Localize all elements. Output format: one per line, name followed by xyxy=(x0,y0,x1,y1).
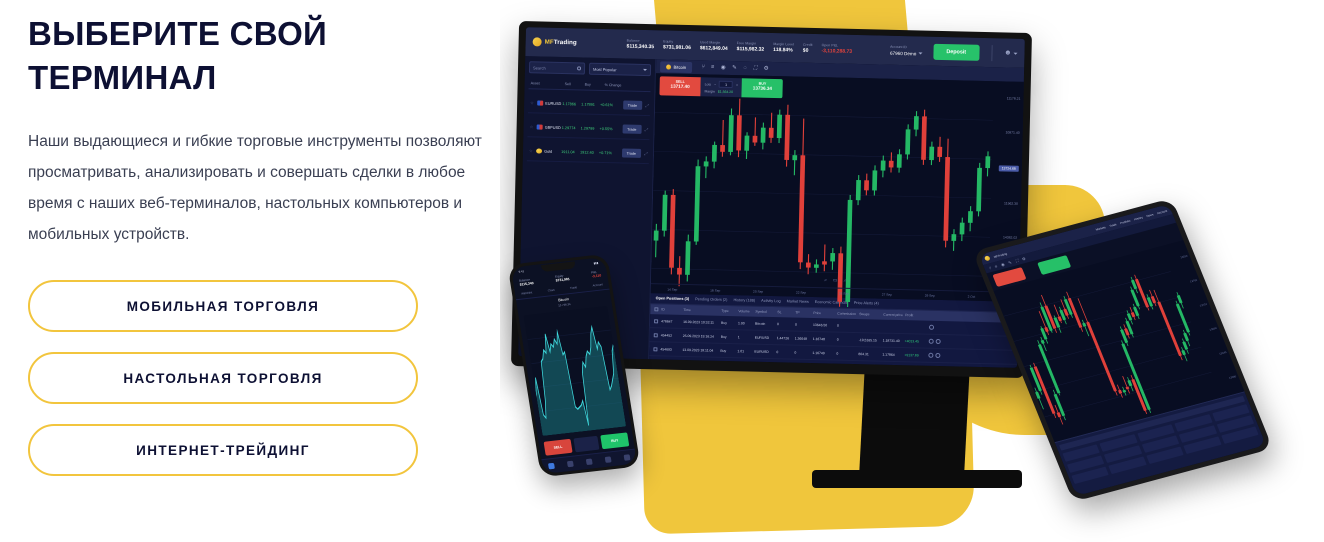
logo-prefix: MF xyxy=(545,39,554,46)
reset-zoom-icon[interactable]: ▭ xyxy=(833,277,838,283)
cell-time: 13.09.2023 18:11:04 xyxy=(682,347,720,352)
timeframe-icon[interactable]: ≡ xyxy=(711,65,714,71)
stat-equity: Equity $731,981.06 xyxy=(663,39,691,51)
stat-label: Credit xyxy=(803,42,813,46)
buy-price: 13736.34 xyxy=(742,85,783,91)
search-icon xyxy=(577,66,581,70)
cell-id: 454452 xyxy=(661,333,683,338)
cell-id: 478847 xyxy=(661,319,683,324)
bitcoin-icon xyxy=(666,64,671,69)
chart-icon[interactable] xyxy=(567,461,574,468)
watchlist-header: Asset Sell Buy % Change xyxy=(529,77,651,92)
time-tick: 27 Sep xyxy=(882,292,892,296)
chart-tab-bitcoin[interactable]: Bitcoin xyxy=(660,61,692,73)
cell-profit xyxy=(905,327,927,328)
tablet-menu-history[interactable]: History xyxy=(1133,215,1143,221)
trade-button[interactable]: Trade xyxy=(622,124,641,133)
time-tick: 14 Sep xyxy=(667,287,677,291)
buy-button[interactable]: BUY 13736.34 xyxy=(742,78,783,98)
cell-swaps: -19,5165.15 xyxy=(859,338,883,343)
timeframe-icon[interactable]: ≡ xyxy=(994,264,998,269)
edit-position-icon[interactable] xyxy=(929,339,934,344)
draw-icon[interactable]: ✎ xyxy=(732,65,737,71)
promo-section: ВЫБЕРИТЕ СВОЙ ТЕРМИНАЛ Наши выдающиеся и… xyxy=(0,0,1324,542)
price-tick: 13810 xyxy=(1180,255,1188,260)
margin-label: Margin xyxy=(704,89,714,93)
cell-current-price xyxy=(883,326,905,327)
summary-value: $115,340 xyxy=(519,281,534,287)
trade-icon[interactable] xyxy=(586,458,593,465)
row-checkbox[interactable] xyxy=(653,347,657,351)
time-tick: 25 Sep xyxy=(839,291,849,295)
indicators-icon[interactable]: ⑂ xyxy=(988,265,992,270)
sell-button[interactable]: SELL 13717.40 xyxy=(659,76,700,96)
asset-cell: ☆Gold xyxy=(529,148,561,154)
cell-type: Buy xyxy=(721,320,738,324)
row-checkbox[interactable] xyxy=(654,333,658,337)
tab-account[interactable]: Account xyxy=(592,282,603,287)
decrement-icon[interactable]: − xyxy=(714,82,716,86)
cell-time: 25.09.2023 19:16:24 xyxy=(683,333,721,338)
tab-watchlist[interactable]: Watchlist xyxy=(521,290,533,295)
column-change: % Change xyxy=(605,83,629,88)
logo-mark-icon xyxy=(984,255,991,261)
stat-margin-level: Margin Level 118.84% xyxy=(773,42,794,54)
star-icon[interactable]: ☆ xyxy=(529,148,533,153)
row-checkbox[interactable] xyxy=(654,319,658,323)
cell-commission: 0 xyxy=(837,323,859,328)
column-tp: TP xyxy=(795,311,813,315)
search-input[interactable]: Search xyxy=(529,61,585,74)
mobile-chart-svg xyxy=(524,306,627,436)
page-title: ВЫБЕРИТЕ СВОЙ ТЕРМИНАЛ xyxy=(28,12,458,100)
divider xyxy=(991,45,992,61)
cell-price: 13646.50 xyxy=(813,323,837,328)
cell-volume: 1 xyxy=(738,335,755,339)
chart-tab-label: Bitcoin xyxy=(674,64,687,69)
price-tick: 11962.30 xyxy=(1004,202,1018,206)
summary-value: -3,110 xyxy=(592,273,602,278)
filter-value: Most Popular xyxy=(593,66,617,72)
tablet-logo-label: MFTrading xyxy=(993,251,1008,258)
cell-id: 454693 xyxy=(660,347,682,352)
chevron-down-icon xyxy=(1013,52,1017,54)
search-placeholder: Search xyxy=(533,65,546,70)
sell-price: 1911.04 xyxy=(561,150,580,154)
margin-row: Margin $1,564.20 xyxy=(704,89,737,94)
flag-icon xyxy=(537,124,543,129)
price-tick: 13724 xyxy=(1199,303,1207,308)
cell-symbol: EURUSD xyxy=(754,349,776,354)
stat-label: Used Margin xyxy=(700,40,728,45)
column-id: ID xyxy=(661,307,683,312)
mobile-sell-button[interactable]: SELL xyxy=(544,439,573,456)
mobile-buy-button[interactable]: BUY xyxy=(600,432,629,449)
chart-tools: ⑂ ≡ ◉ ✎ ◌ ⛶ ⚙ xyxy=(701,64,769,73)
edit-position-icon[interactable] xyxy=(928,353,933,358)
settings-icon[interactable]: ⚙ xyxy=(1021,256,1026,262)
star-icon[interactable]: ☆ xyxy=(530,124,534,129)
tablet-menu-account[interactable]: Account xyxy=(1156,208,1167,214)
cell-time: 16.09.2023 10:32:11 xyxy=(683,319,721,324)
price-tick: 13640 xyxy=(1219,351,1227,356)
mobile-lots-field[interactable] xyxy=(573,436,599,453)
mobile-trading-button[interactable]: МОБИЛЬНАЯ ТОРГОВЛЯ xyxy=(28,280,418,332)
trade-button[interactable]: Trade xyxy=(621,148,640,157)
time-tick: 18 Sep xyxy=(710,288,720,292)
sell-price: 13717.40 xyxy=(660,83,701,89)
watchlist-filter-select[interactable]: Most Popular xyxy=(589,63,651,76)
column-buy: Buy xyxy=(585,83,605,87)
chart-zoom-controls: ⌕ ▭ ⌕ xyxy=(824,277,846,284)
cell-commission: 0 xyxy=(837,337,859,342)
close-position-icon[interactable] xyxy=(929,325,934,330)
stat-label: Equity xyxy=(663,39,691,44)
fullscreen-icon[interactable]: ⛶ xyxy=(753,65,757,72)
monitor-stand-base xyxy=(812,470,1022,488)
price-tick: 11178.21 xyxy=(1007,97,1021,101)
close-position-icon[interactable] xyxy=(935,353,940,358)
summary-value: $731,981 xyxy=(555,277,570,283)
select-all-checkbox[interactable] xyxy=(654,307,658,311)
tablet-menu-news[interactable]: News xyxy=(1146,212,1154,218)
lots-value[interactable]: 1 xyxy=(719,81,733,88)
mobile-area-chart[interactable] xyxy=(524,306,627,436)
cell-symbol: Bitcoin xyxy=(755,321,777,326)
stat-balance: Balance $115,340.35 xyxy=(626,38,654,50)
cell-symbol: EURUSD xyxy=(755,335,777,340)
price-tick: 13590 xyxy=(1228,375,1236,380)
cell-current-price: 1.17864 xyxy=(882,352,904,357)
column-swaps: Swaps xyxy=(859,312,883,317)
price-tick: 13690 xyxy=(1209,327,1217,332)
tablet-menu-trade[interactable]: Trade xyxy=(1108,222,1117,228)
buy-price: 1912.40 xyxy=(580,150,599,154)
cta-button-group: МОБИЛЬНАЯ ТОРГОВЛЯ НАСТОЛЬНАЯ ТОРГОВЛЯ И… xyxy=(28,280,528,476)
chevron-down-icon xyxy=(918,53,922,55)
stat-label: Balance xyxy=(627,38,655,43)
tab-trade[interactable]: Trade xyxy=(570,285,578,290)
column-volume: Volume xyxy=(738,309,755,313)
account-selector[interactable]: Account ID 67960 Demo xyxy=(890,45,923,56)
price-chart[interactable]: SELL 13717.40 Lots − 1 + xyxy=(651,73,1024,302)
cell-tp: 0 xyxy=(795,322,813,326)
watchlist-row[interactable]: ☆EURUSD 1.17866 1.17891 +0.61% Trade ⤢ xyxy=(528,93,650,116)
stat-value: 118.84% xyxy=(773,47,794,53)
flag-icon xyxy=(537,100,543,105)
cell-price: 1.16748 xyxy=(813,337,837,342)
tablet-menu-portfolio[interactable]: Portfolio xyxy=(1119,218,1130,224)
stat-value: $0 xyxy=(803,48,813,54)
account-stats: Balance $115,340.35 Equity $731,981.06 U… xyxy=(622,38,884,56)
stat-label: Open P&L xyxy=(822,43,853,48)
time-tick: 2 Oct xyxy=(968,294,976,298)
trade-button[interactable]: Trade xyxy=(623,100,642,109)
column-sl: SL xyxy=(777,310,795,314)
copy-column: ВЫБЕРИТЕ СВОЙ ТЕРМИНАЛ Наши выдающиеся и… xyxy=(28,0,528,542)
margin-value: $1,564.20 xyxy=(718,90,733,94)
cell-sl: 1.44726 xyxy=(777,336,795,340)
account-value: 67960 Demo xyxy=(890,51,916,57)
brand-logo[interactable]: MFTrading xyxy=(533,37,617,48)
desktop-trading-button[interactable]: НАСТОЛЬНАЯ ТОРГОВЛЯ xyxy=(28,352,418,404)
buy-price: 1.29799 xyxy=(581,126,600,130)
stat-label: Free Margin xyxy=(737,41,765,46)
cell-tp: 1.36648 xyxy=(795,336,813,340)
tablet-menu-markets[interactable]: Markets xyxy=(1095,225,1106,231)
stat-value: $612,849.04 xyxy=(700,46,728,53)
column-profit: Profit xyxy=(905,313,927,318)
cell-commission: 0 xyxy=(836,351,858,356)
settings-icon[interactable]: ⚙ xyxy=(764,66,769,72)
deposit-button[interactable]: Deposit xyxy=(933,43,979,60)
column-symbol: Symbol xyxy=(755,310,777,315)
stat-open-pl: Open P&L -3,110,288.73 xyxy=(821,43,852,55)
tablet-device: MFTrading Markets Trade Portfolio Histor… xyxy=(972,198,1273,502)
cell-tp: 0 xyxy=(794,350,812,354)
asset-cell: ☆GBPUSD xyxy=(530,124,562,130)
column-type: Type xyxy=(721,309,738,313)
change-percent: +0.61% xyxy=(600,102,623,107)
logo-suffix: Trading xyxy=(554,39,577,47)
cell-swaps xyxy=(859,326,883,327)
fullscreen-icon[interactable]: ⛶ xyxy=(1015,258,1020,263)
order-ticket: SELL 13717.40 Lots − 1 + xyxy=(659,76,783,98)
stat-used-margin: Used Margin $612,849.04 xyxy=(700,40,728,52)
asset-label: GBPUSD xyxy=(545,125,561,129)
logo-mark-icon xyxy=(533,37,542,46)
lots-label: Lots xyxy=(705,82,712,86)
increment-icon[interactable]: + xyxy=(736,83,738,87)
stat-label: Margin Level xyxy=(773,42,794,46)
expand-icon[interactable]: ⤢ xyxy=(644,127,647,132)
cell-sl: 0 xyxy=(776,350,794,354)
account-label: Account ID xyxy=(890,45,922,50)
cell-volume: 1.01 xyxy=(737,349,754,353)
cell-swaps: 804.31 xyxy=(858,352,882,357)
buy-price: 1.17891 xyxy=(581,102,600,106)
user-avatar-icon[interactable]: ☻ xyxy=(1004,49,1018,56)
asset-label: EURUSD xyxy=(545,101,561,105)
chart-column: Bitcoin ⑂ ≡ ◉ ✎ ◌ ⛶ ⚙ xyxy=(649,59,1024,368)
draw-icon[interactable]: ✎ xyxy=(1007,260,1012,266)
cell-profit: +4013.45 xyxy=(905,339,927,344)
compare-icon[interactable]: ◉ xyxy=(721,65,726,71)
home-icon[interactable] xyxy=(548,463,555,470)
close-position-icon[interactable] xyxy=(936,339,941,344)
stat-value: $731,981.06 xyxy=(663,45,691,52)
time-tick: 29 Sep xyxy=(925,293,935,297)
stat-free-margin: Free Margin $115,982.32 xyxy=(737,41,765,53)
cell-profit: +9137.89 xyxy=(904,353,926,358)
expand-icon[interactable]: ⤢ xyxy=(644,151,647,156)
watchlist-row[interactable]: ☆GBPUSD 1.29774 1.29799 +0.55% Trade ⤢ xyxy=(527,117,649,140)
column-commission: Commission xyxy=(837,312,859,317)
signal-icons: ▮▮▮ xyxy=(593,260,598,264)
web-trading-button[interactable]: ИНТЕРНЕТ-ТРЕЙДИНГ xyxy=(28,424,418,476)
stat-credit: Credit $0 xyxy=(803,42,813,54)
sell-price: 1.17866 xyxy=(562,102,581,106)
indicators-icon[interactable]: ⑂ xyxy=(701,64,704,70)
profile-icon[interactable] xyxy=(623,454,630,461)
column-sell: Sell xyxy=(565,82,585,86)
lots-row: Lots − 1 + xyxy=(705,80,738,88)
cell-volume: 1.00 xyxy=(738,321,755,325)
cell-current-price: 1.18731.40 xyxy=(883,338,905,343)
page-description: Наши выдающиеся и гибкие торговые инстру… xyxy=(28,126,498,250)
sell-price: 1.29774 xyxy=(562,126,581,130)
asset-cell: ☆EURUSD xyxy=(530,100,562,106)
current-price-badge: 13724.68 xyxy=(999,165,1019,171)
zoom-out-icon[interactable]: ⌕ xyxy=(824,277,827,283)
stat-value: -3,110,288.73 xyxy=(821,48,852,55)
star-icon[interactable]: ☆ xyxy=(530,100,534,105)
wallet-icon[interactable] xyxy=(604,456,611,463)
zoom-in-icon[interactable]: ⌕ xyxy=(843,278,846,284)
column-asset: Asset xyxy=(531,81,565,86)
price-tick: 10871.40 xyxy=(1005,131,1019,135)
change-percent: +0.71% xyxy=(599,150,622,155)
expand-icon[interactable]: ⤢ xyxy=(645,103,648,108)
change-percent: +0.55% xyxy=(599,126,622,131)
cell-sl: 0 xyxy=(777,322,795,326)
chevron-down-icon xyxy=(643,69,647,71)
lots-controls: Lots − 1 + Margin $1,564.20 xyxy=(700,77,742,97)
watchlist-row[interactable]: ☆Gold 1911.04 1912.40 +0.71% Trade ⤢ xyxy=(527,141,649,164)
cell-type: Buy xyxy=(721,334,738,338)
time-tick: 20 Sep xyxy=(753,289,763,293)
watchlist-controls: Search Most Popular xyxy=(529,61,651,76)
time-tick: 22 Sep xyxy=(796,290,806,294)
gold-icon xyxy=(536,148,542,153)
price-tick: 13760 xyxy=(1190,279,1198,284)
tab-chart[interactable]: Chart xyxy=(547,288,554,293)
device-showcase: MFTrading Balance $115,340.35 Equity $73… xyxy=(500,0,1324,542)
tablet-app-screen: MFTrading Markets Trade Portfolio Histor… xyxy=(979,204,1266,496)
column-current-price: Current price xyxy=(883,313,905,318)
asset-label: Gold xyxy=(544,149,552,153)
alert-icon[interactable]: ◌ xyxy=(743,65,746,71)
stat-value: $115,340.35 xyxy=(626,44,654,51)
compare-icon[interactable]: ◉ xyxy=(1000,262,1005,268)
cell-type: Buy xyxy=(720,348,737,352)
stat-value: $115,982.32 xyxy=(737,46,765,53)
status-time: 9:41 xyxy=(518,269,524,274)
cell-price: 1.16749 xyxy=(812,351,836,356)
